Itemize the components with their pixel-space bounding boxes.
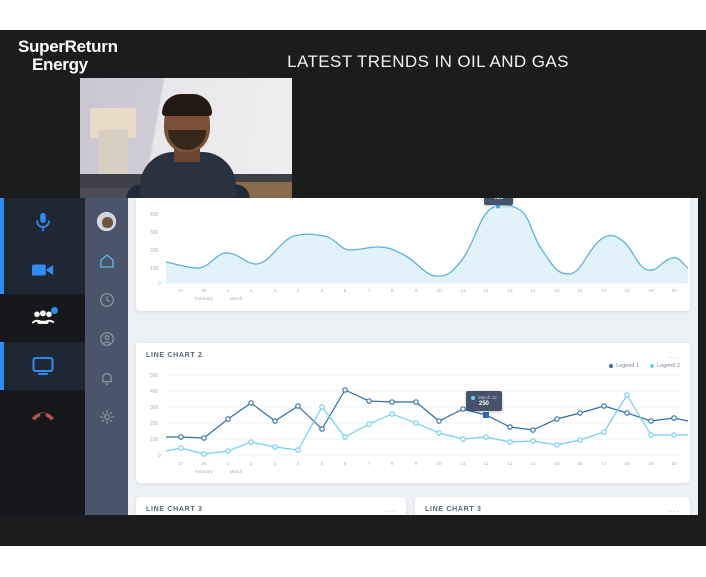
svg-text:9: 9: [415, 288, 418, 293]
mic-toggle-button[interactable]: [0, 198, 85, 246]
microphone-icon: [32, 211, 54, 233]
svg-text:6: 6: [344, 288, 347, 293]
svg-text:13: 13: [507, 288, 513, 293]
svg-text:500: 500: [150, 198, 159, 200]
svg-text:8: 8: [391, 461, 394, 466]
svg-text:9: 9: [415, 461, 418, 466]
participants-button[interactable]: [0, 294, 85, 342]
chart2-active-point: [483, 412, 489, 418]
svg-text:0: 0: [158, 453, 161, 459]
card-chart3-right-title: LINE CHART 3: [425, 506, 482, 513]
page-title: LATEST TRENDS IN OIL AND GAS: [0, 52, 706, 72]
svg-text:500: 500: [150, 373, 159, 379]
svg-text:11: 11: [461, 461, 466, 466]
svg-text:February: February: [195, 469, 214, 474]
card-chart3-right-menu[interactable]: ...: [669, 506, 680, 513]
chart2-tooltip-title: March 12: [478, 394, 497, 401]
svg-text:4: 4: [297, 461, 300, 466]
bottom-letterbox: [0, 515, 706, 546]
svg-text:5: 5: [321, 288, 324, 293]
svg-text:18: 18: [624, 288, 630, 293]
svg-text:400: 400: [150, 212, 159, 218]
svg-text:1: 1: [227, 461, 230, 466]
svg-text:17: 17: [601, 461, 607, 466]
svg-text:200: 200: [150, 248, 159, 254]
svg-text:12: 12: [483, 288, 489, 293]
legend-dot-icon: [650, 364, 654, 368]
svg-text:13: 13: [507, 461, 513, 466]
svg-text:400: 400: [150, 389, 159, 395]
svg-text:0: 0: [158, 281, 161, 287]
chart2-tooltip-value: 250: [471, 401, 497, 408]
svg-text:15: 15: [554, 288, 560, 293]
svg-text:7: 7: [368, 461, 371, 466]
monitor-icon: [31, 355, 55, 377]
avatar-icon[interactable]: [97, 212, 116, 231]
svg-text:2: 2: [250, 461, 253, 466]
card-chart2-menu[interactable]: ...: [669, 352, 680, 359]
legend-dot-icon: [609, 364, 613, 368]
participants-badge: [51, 307, 58, 314]
svg-text:1: 1: [227, 288, 230, 293]
svg-text:4: 4: [297, 288, 300, 293]
svg-text:6: 6: [344, 461, 347, 466]
svg-text:20: 20: [671, 288, 677, 293]
card-chart3-left-title: LINE CHART 3: [146, 506, 203, 513]
chart2-plot[interactable]: 500400300 2001000: [136, 369, 690, 477]
clock-icon[interactable]: [98, 291, 116, 309]
svg-text:100: 100: [150, 266, 159, 272]
app-nav-rail: [85, 198, 128, 546]
svg-text:3: 3: [274, 461, 277, 466]
svg-text:14: 14: [530, 461, 536, 466]
svg-text:10: 10: [436, 288, 442, 293]
svg-text:5: 5: [321, 461, 324, 466]
card-chart3-left-menu[interactable]: ...: [385, 506, 396, 513]
card-chart3-left-header: LINE CHART 3 ...: [136, 497, 406, 513]
dashboard-area: ... 500400300 2001000: [128, 198, 698, 546]
svg-text:18: 18: [624, 461, 630, 466]
chart2-legend-item-2[interactable]: Legend 2: [650, 363, 680, 369]
svg-text:February: February: [195, 296, 214, 301]
card-chart2-title: LINE CHART 2: [146, 352, 203, 359]
svg-text:8: 8: [391, 288, 394, 293]
svg-text:March: March: [230, 469, 243, 474]
video-camera-icon: [31, 259, 55, 281]
svg-text:17: 17: [601, 288, 607, 293]
svg-text:28: 28: [201, 461, 207, 466]
card-chart2[interactable]: LINE CHART 2 ... Legend 1 Legend 2: [136, 343, 690, 483]
svg-text:19: 19: [648, 461, 654, 466]
svg-text:7: 7: [368, 288, 371, 293]
svg-text:19: 19: [648, 288, 654, 293]
card-chart1[interactable]: ... 500400300 2001000: [136, 198, 690, 311]
svg-text:14: 14: [530, 288, 536, 293]
presenter-hair: [162, 94, 212, 116]
svg-text:11: 11: [461, 288, 466, 293]
card-chart3-right-header: LINE CHART 3 ...: [415, 497, 690, 513]
chart2-legend: Legend 1 Legend 2: [136, 359, 690, 369]
svg-text:100: 100: [150, 437, 159, 443]
camera-toggle-button[interactable]: [0, 246, 85, 294]
chart2-tooltip: March 12 250: [466, 391, 502, 411]
screen-root: SuperReturn Energy LATEST TRENDS IN OIL …: [0, 0, 706, 577]
svg-text:27: 27: [178, 461, 184, 466]
svg-text:10: 10: [436, 461, 442, 466]
chart1-tooltip-value: 450: [489, 198, 508, 202]
svg-text:200: 200: [150, 421, 159, 427]
bell-icon[interactable]: [98, 369, 116, 387]
chart2-legend-label-1: Legend 1: [616, 363, 639, 369]
svg-text:300: 300: [150, 405, 159, 411]
svg-text:16: 16: [577, 461, 583, 466]
svg-text:2: 2: [250, 288, 253, 293]
chart2-legend-item-1[interactable]: Legend 1: [609, 363, 639, 369]
share-screen-button[interactable]: [0, 342, 85, 390]
svg-text:12: 12: [483, 461, 489, 466]
chart1-plot[interactable]: 500400300 2001000 27281 234 567: [136, 198, 690, 302]
call-controls-rail: [0, 198, 85, 546]
hang-up-icon: [30, 404, 56, 424]
svg-text:15: 15: [554, 461, 560, 466]
webinar-frame: SuperReturn Energy LATEST TRENDS IN OIL …: [0, 30, 706, 546]
dashboard-scroll[interactable]: ... 500400300 2001000: [128, 198, 698, 546]
user-circle-icon[interactable]: [98, 330, 116, 348]
svg-text:28: 28: [201, 288, 207, 293]
svg-text:300: 300: [150, 230, 159, 236]
svg-text:16: 16: [577, 288, 583, 293]
svg-text:20: 20: [671, 461, 677, 466]
card-chart2-header: LINE CHART 2 ...: [136, 343, 690, 359]
chart2-legend-label-2: Legend 2: [657, 363, 680, 369]
svg-text:March: March: [230, 296, 243, 301]
home-icon[interactable]: [98, 252, 116, 270]
svg-text:3: 3: [274, 288, 277, 293]
chart2-tooltip-head: March 12: [471, 394, 497, 401]
end-call-button[interactable]: [0, 390, 85, 438]
tooltip-dot-icon: [471, 396, 475, 400]
svg-text:27: 27: [178, 288, 184, 293]
chart1-tooltip: March 12 450: [484, 198, 513, 205]
gear-icon[interactable]: [98, 408, 116, 426]
